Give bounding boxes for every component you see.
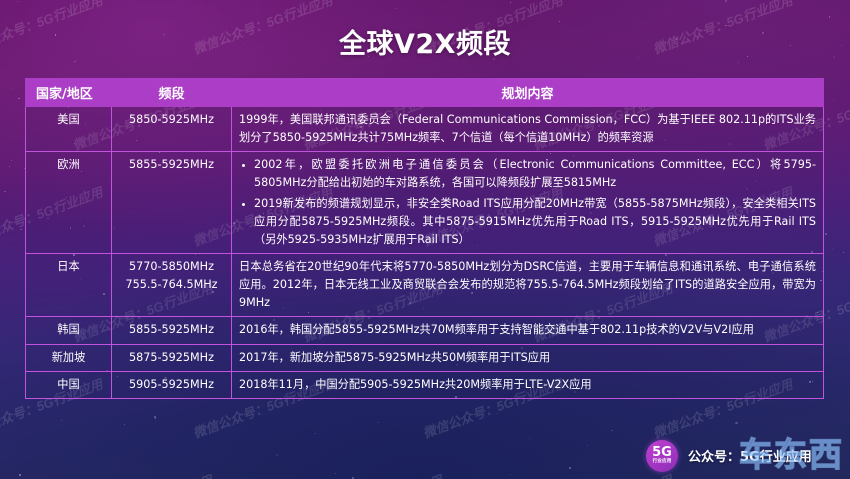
badge-line-2: 行业应用: [653, 459, 672, 465]
column-header-content: 规划内容: [232, 79, 824, 107]
cell-content: 2002年，欧盟委托欧洲电子通信委员会（Electronic Communica…: [232, 152, 824, 254]
table-row: 中国5905-5925MHz2018年11月，中国分配5905-5925MHz共…: [26, 371, 824, 398]
content-bullet-item: 2019新发布的频谱规划显示，非安全类Road ITS应用分配20MHz带宽（5…: [239, 195, 816, 249]
cell-band: 5855-5925MHz: [112, 152, 232, 254]
slide-canvas: 微信公众号：5G行业应用微信公众号：5G行业应用微信公众号：5G行业应用微信公众…: [0, 0, 850, 479]
content-paragraph: 2018年11月，中国分配5905-5925MHz共20M频率用于LTE-V2X…: [239, 376, 816, 394]
cell-band: 5855-5925MHz: [112, 317, 232, 344]
5g-badge-icon: 5G 行业应用: [646, 440, 678, 472]
table-row: 日本5770-5850MHz755.5-764.5MHz日本总务省在20世纪90…: [26, 253, 824, 316]
content-paragraph: 2016年，韩国分配5855-5925MHz共70M频率用于支持智能交通中基于8…: [239, 321, 816, 339]
table-body: 美国5850-5925MHz1999年，美国联邦通讯委员会（Federal Co…: [26, 107, 824, 399]
band-value: 5875-5925MHz: [119, 349, 224, 367]
page-title: 全球V2X频段: [0, 22, 850, 61]
content-paragraph: 日本总务省在20世纪90年代末将5770-5850MHz划分为DSRC信道，主要…: [239, 258, 816, 312]
cell-country: 中国: [26, 371, 112, 398]
content-bullet-list: 2002年，欧盟委托欧洲电子通信委员会（Electronic Communica…: [239, 156, 816, 249]
cell-content: 日本总务省在20世纪90年代末将5770-5850MHz划分为DSRC信道，主要…: [232, 253, 824, 316]
cell-content: 2016年，韩国分配5855-5925MHz共70M频率用于支持智能交通中基于8…: [232, 317, 824, 344]
table-row: 美国5850-5925MHz1999年，美国联邦通讯委员会（Federal Co…: [26, 107, 824, 152]
watermark-text: 微信公众号：5G行业应用: [300, 470, 445, 479]
band-value: 5905-5925MHz: [119, 376, 224, 394]
watermark-text: 微信公众号：5G行业应用: [530, 470, 675, 479]
cell-content: 1999年，美国联邦通讯委员会（Federal Communications C…: [232, 107, 824, 152]
cell-country: 欧洲: [26, 152, 112, 254]
band-value: 5855-5925MHz: [119, 321, 224, 339]
cell-country: 日本: [26, 253, 112, 316]
cell-band: 5770-5850MHz755.5-764.5MHz: [112, 253, 232, 316]
cell-content: 2018年11月，中国分配5905-5925MHz共20M频率用于LTE-V2X…: [232, 371, 824, 398]
table-header-row: 国家/地区 频段 规划内容: [26, 79, 824, 107]
cell-country: 韩国: [26, 317, 112, 344]
band-value: 5770-5850MHz: [119, 258, 224, 276]
band-value: 5850-5925MHz: [119, 111, 224, 129]
cell-country: 美国: [26, 107, 112, 152]
content-bullet-item: 2002年，欧盟委托欧洲电子通信委员会（Electronic Communica…: [239, 156, 816, 192]
table-row: 欧洲5855-5925MHz2002年，欧盟委托欧洲电子通信委员会（Electr…: [26, 152, 824, 254]
band-value: 755.5-764.5MHz: [119, 276, 224, 294]
cell-band: 5850-5925MHz: [112, 107, 232, 152]
cell-content: 2017年，新加坡分配5875-5925MHz共50M频率用于ITS应用: [232, 344, 824, 371]
v2x-spectrum-table: 国家/地区 频段 规划内容 美国5850-5925MHz1999年，美国联邦通讯…: [25, 78, 824, 399]
table-row: 韩国5855-5925MHz2016年，韩国分配5855-5925MHz共70M…: [26, 317, 824, 344]
watermark-text: 微信公众号：5G行业应用: [70, 470, 215, 479]
column-header-country: 国家/地区: [26, 79, 112, 107]
content-paragraph: 1999年，美国联邦通讯委员会（Federal Communications C…: [239, 111, 816, 147]
cell-country: 新加坡: [26, 344, 112, 371]
brand-watermark-logo: 车东西: [739, 428, 844, 476]
cell-band: 5905-5925MHz: [112, 371, 232, 398]
column-header-band: 频段: [112, 79, 232, 107]
band-value: 5855-5925MHz: [119, 156, 224, 174]
badge-line-1: 5G: [652, 447, 672, 459]
v2x-spectrum-table-wrapper: 国家/地区 频段 规划内容 美国5850-5925MHz1999年，美国联邦通讯…: [25, 78, 823, 399]
content-paragraph: 2017年，新加坡分配5875-5925MHz共50M频率用于ITS应用: [239, 349, 816, 367]
cell-band: 5875-5925MHz: [112, 344, 232, 371]
table-row: 新加坡5875-5925MHz2017年，新加坡分配5875-5925MHz共5…: [26, 344, 824, 371]
